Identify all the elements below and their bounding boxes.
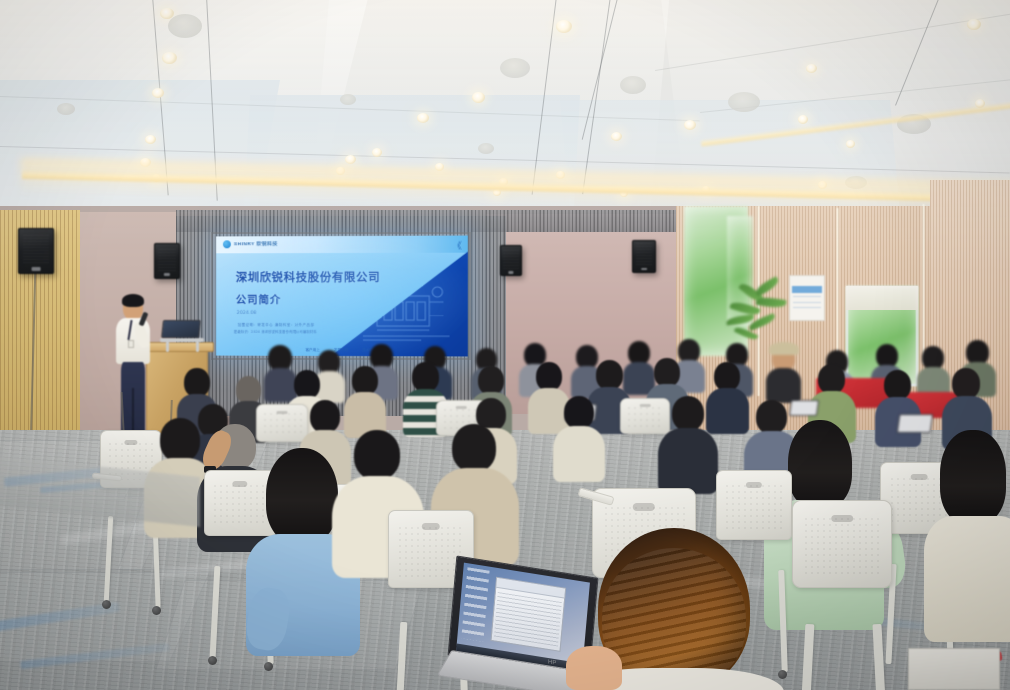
long-hair bbox=[266, 448, 338, 544]
wall-notice-poster bbox=[789, 275, 825, 321]
screen-bezel bbox=[211, 232, 471, 360]
poster-line bbox=[793, 307, 822, 308]
speaker-right-near bbox=[500, 245, 522, 276]
foreground-woman-hair-strands bbox=[602, 548, 746, 688]
speaker-right-far bbox=[632, 240, 656, 273]
speaker-left-near bbox=[154, 243, 180, 279]
poster-line bbox=[793, 296, 822, 297]
baseball-cap bbox=[769, 342, 799, 355]
app-content-grid bbox=[494, 592, 561, 647]
window-blind bbox=[846, 286, 918, 310]
podium-leg-left bbox=[166, 340, 169, 352]
presenter-hair bbox=[122, 294, 144, 307]
acoustic-slat-wall-upper bbox=[176, 210, 696, 232]
notebook-bottom-right[interactable] bbox=[908, 648, 1000, 690]
laptop-brand-mark: HP bbox=[548, 659, 556, 666]
foreground-woman-hand bbox=[566, 646, 622, 690]
poster-header-band bbox=[792, 286, 822, 293]
podium-leg-right bbox=[196, 340, 199, 352]
ceiling bbox=[0, 0, 1010, 232]
desktop-icons[interactable] bbox=[461, 567, 490, 642]
long-hair bbox=[788, 420, 852, 508]
speaker-left-far bbox=[18, 228, 54, 274]
conference-room-photo: SHINRY 欣锐科技 《 深圳欣锐科技股 bbox=[0, 0, 1010, 690]
presenter bbox=[112, 296, 156, 444]
open-app-window[interactable] bbox=[490, 577, 566, 652]
led-light-strip-3 bbox=[922, 204, 925, 364]
presenter-badge bbox=[128, 340, 134, 348]
poster-line bbox=[793, 302, 822, 303]
podium-laptop bbox=[162, 320, 200, 342]
